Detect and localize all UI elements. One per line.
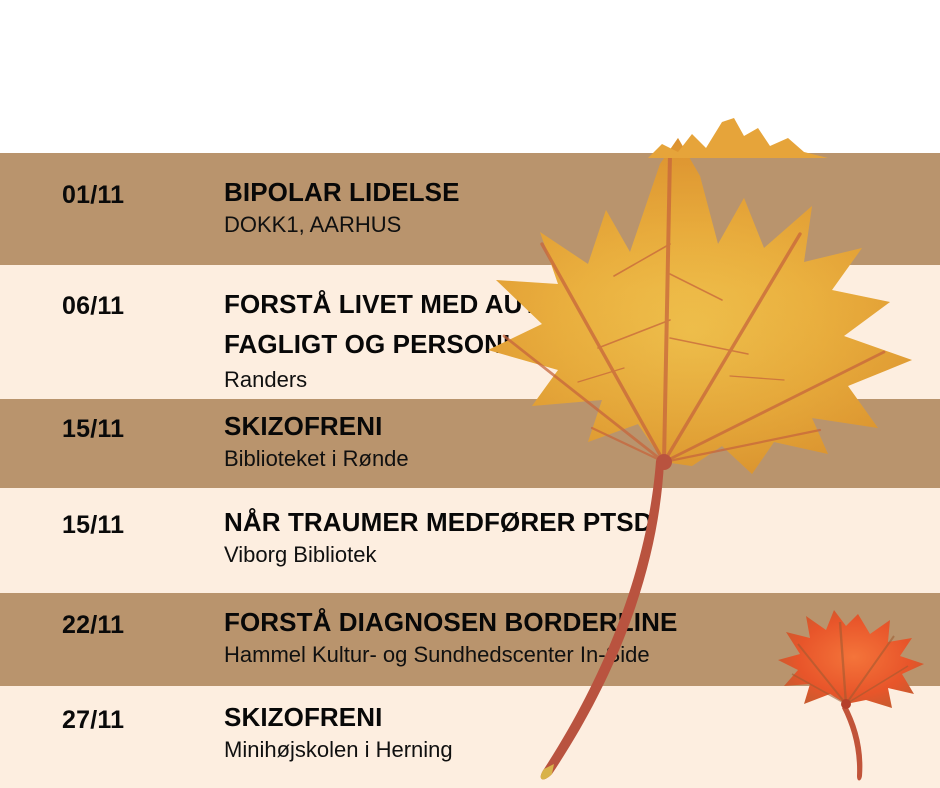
event-row: 15/11 SKIZOFRENI Biblioteket i Rønde [0,399,940,488]
event-details: FORSTÅ DIAGNOSEN BORDERLINE Hammel Kultu… [224,605,932,670]
maple-leaf-tip-icon [648,118,828,158]
event-venue: Randers [224,365,932,395]
event-row: 22/11 FORSTÅ DIAGNOSEN BORDERLINE Hammel… [0,593,940,686]
event-venue: Viborg Bibliotek [224,540,932,570]
event-details: NÅR TRAUMER MEDFØRER PTSD Viborg Bibliot… [224,505,932,570]
event-date: 27/11 [62,706,124,735]
event-title: NÅR TRAUMER MEDFØRER PTSD [224,505,932,539]
event-venue: DOKK1, AARHUS [224,210,932,240]
event-title: SKIZOFRENI [224,700,932,734]
event-venue: Biblioteket i Rønde [224,444,932,474]
event-date: 15/11 [62,511,124,540]
event-date: 22/11 [62,611,124,640]
event-row: 06/11 FORSTÅ LIVET MED AUTISME UD FRA ET… [0,265,940,399]
event-title: FORSTÅ LIVET MED AUTISME UD FRA ET FAGLI… [224,284,932,364]
event-title: FORSTÅ DIAGNOSEN BORDERLINE [224,605,932,639]
event-title: BIPOLAR LIDELSE [224,175,932,209]
event-row: 27/11 SKIZOFRENI Minihøjskolen i Herning [0,686,940,788]
event-venue: Hammel Kultur- og Sundhedscenter In-Side [224,640,932,670]
event-date: 15/11 [62,415,124,444]
event-details: SKIZOFRENI Biblioteket i Rønde [224,409,932,474]
event-date: 06/11 [62,292,124,321]
event-row: 15/11 NÅR TRAUMER MEDFØRER PTSD Viborg B… [0,488,940,593]
event-venue: Minihøjskolen i Herning [224,735,932,765]
event-poster: 01/11 BIPOLAR LIDELSE DOKK1, AARHUS 06/1… [0,0,940,788]
event-row: 01/11 BIPOLAR LIDELSE DOKK1, AARHUS [0,153,940,265]
event-details: SKIZOFRENI Minihøjskolen i Herning [224,700,932,765]
event-details: FORSTÅ LIVET MED AUTISME UD FRA ET FAGLI… [224,284,932,395]
event-title: SKIZOFRENI [224,409,932,443]
event-list: 01/11 BIPOLAR LIDELSE DOKK1, AARHUS 06/1… [0,153,940,788]
event-date: 01/11 [62,181,124,210]
event-details: BIPOLAR LIDELSE DOKK1, AARHUS [224,175,932,240]
